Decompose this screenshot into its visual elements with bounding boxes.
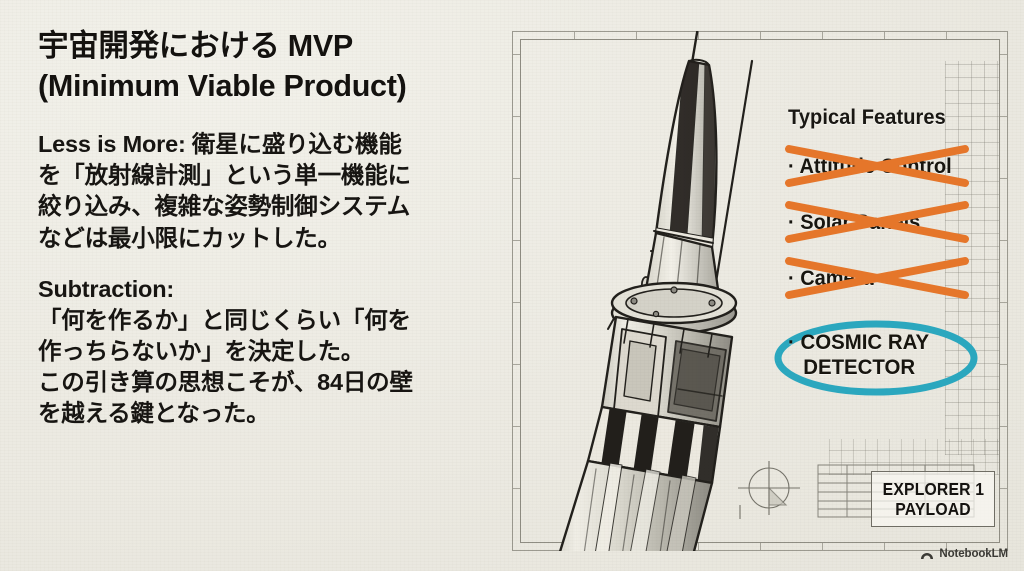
paragraph1-line-4: などは最小限にカットした。 [38, 223, 508, 254]
notebooklm-logo-icon [920, 548, 934, 560]
frame-ticks-left [512, 31, 520, 551]
paragraph1-line-3: 絞り込み、複雑な姿勢制御システム [38, 191, 508, 222]
projection-symbol-icon [730, 459, 808, 521]
feature-item-solar-panels[interactable]: · Solar Panels [788, 202, 1006, 242]
subtraction-heading: Subtraction: [38, 274, 508, 305]
title-line-1: 宇宙開発における MVP [38, 29, 353, 63]
slide-canvas: 宇宙開発における MVP (Minimum Viable Product) Le… [0, 0, 1024, 571]
paragraph-subtraction: Subtraction: 「何を作るか」と同じくらい「何を 作っちらないか」を決… [38, 274, 508, 429]
titleblock-line-1: EXPLORER 1 [882, 479, 984, 499]
paragraph-less-is-more: Less is More: 衛星に盛り込む機能 を「放射線計測」という単一機能に… [38, 129, 508, 255]
watermark: NotebookLM [920, 548, 1008, 560]
feature-label: · Solar Panels [788, 202, 991, 242]
paragraph1-line-2: を「放射線計測」という単一機能に [38, 160, 508, 191]
feature-label-line-1: · COSMIC RAY [788, 330, 929, 354]
feature-item-cosmic-ray-detector[interactable]: · COSMIC RAY DETECTOR [788, 324, 1006, 390]
title-line-2: (Minimum Viable Product) [38, 66, 508, 106]
feature-label: · Camera [788, 258, 991, 298]
feature-item-attitude-control[interactable]: · Attitude Control [788, 146, 1006, 186]
feature-item-camera[interactable]: · Camera [788, 258, 1006, 298]
feature-label-line-2: DETECTOR [788, 355, 995, 380]
feature-list: Typical Features · Attitude Control · So… [788, 105, 1006, 390]
titleblock-name: EXPLORER 1 PAYLOAD [871, 471, 995, 527]
feature-list-heading: Typical Features [788, 105, 991, 130]
text-column: 宇宙開発における MVP (Minimum Viable Product) Le… [38, 26, 508, 429]
blueprint-panel: EXPLORER 1 PAYLOAD Typical Features · At… [512, 31, 1008, 551]
watermark-text: NotebookLM [939, 548, 1008, 560]
paragraph2-body: 「何を作るか」と同じくらい「何を 作っちらないか」を決定した。 この引き算の思想… [38, 305, 508, 429]
paragraph2-line-1: 「何を作るか」と同じくらい「何を [38, 305, 508, 336]
frame-ticks-top [512, 31, 1008, 39]
page-title: 宇宙開発における MVP (Minimum Viable Product) [38, 26, 508, 107]
paragraph2-line-3: この引き算の思想こそが、84日の壁 [38, 367, 508, 398]
feature-label: · COSMIC RAY DETECTOR [788, 324, 995, 381]
paragraph1-line-1: Less is More: 衛星に盛り込む機能 [38, 129, 508, 160]
paragraph2-line-4: を越える鍵となった。 [38, 398, 508, 429]
titleblock-line-2: PAYLOAD [895, 499, 971, 519]
feature-label: · Attitude Control [788, 146, 991, 186]
paragraph2-line-2: 作っちらないか」を決定した。 [38, 336, 508, 367]
